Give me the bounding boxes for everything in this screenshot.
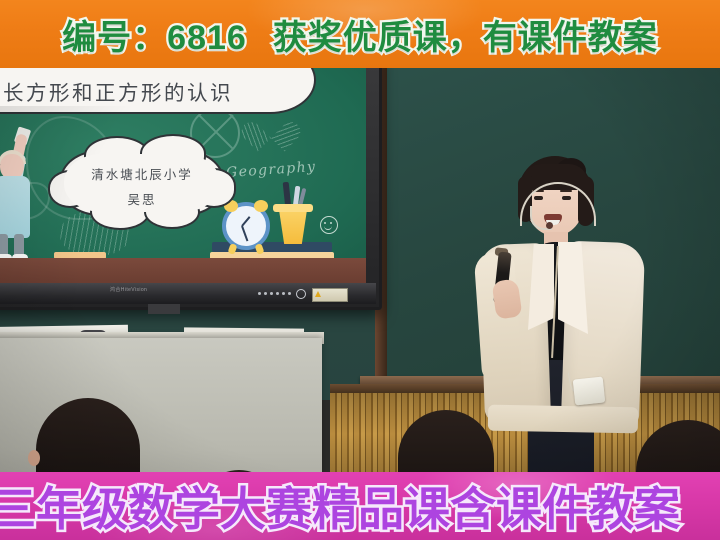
board-button[interactable] [270, 292, 273, 295]
slide-title: 长方形和正方形的认识 [0, 78, 298, 108]
slide-school-name: 清水塘北辰小学 [62, 164, 222, 183]
teacher-figure [470, 156, 658, 500]
smart-board-buttons[interactable] [258, 292, 291, 295]
lesson-code-label: 编号： [62, 18, 167, 58]
student-ear [28, 450, 40, 466]
lesson-code: 编号：6816 [62, 10, 247, 59]
top-banner-text: 编号：6816 获奖优质课，有课件教案 [62, 10, 658, 59]
chalk-word-geography: Geography [226, 159, 317, 181]
teacher-blazer-hem [488, 405, 638, 434]
cartoon-student-figure [0, 128, 42, 262]
lesson-slide: Geography [0, 62, 366, 284]
board-button[interactable] [264, 292, 267, 295]
classroom-scene: Geography [0, 0, 720, 540]
slide-subtitle-text: 清水塘北辰小学 吴思 [62, 164, 222, 208]
clock-bell-right [254, 200, 268, 212]
microphone-icon [546, 222, 553, 229]
cartoon-dress [0, 176, 30, 238]
video-frame: Geography [0, 0, 720, 540]
slide-teacher-name: 吴思 [62, 189, 222, 208]
board-button[interactable] [276, 292, 279, 295]
smiley-icon [320, 216, 338, 234]
smart-board-screen[interactable]: Geography [0, 62, 366, 284]
smart-board-brand: 鸿合HiteVision [110, 286, 147, 293]
alarm-clock-icon [222, 202, 270, 250]
board-button[interactable] [288, 292, 291, 295]
smart-board-stand [148, 304, 180, 314]
power-button-icon[interactable] [296, 289, 306, 299]
top-banner: 编号：6816 获奖优质课，有课件教案 [0, 0, 720, 68]
board-button[interactable] [282, 292, 285, 295]
belt-mic-pack-icon [573, 377, 606, 406]
lesson-code-value: 6816 [167, 19, 247, 57]
pencil-cup-icon [276, 208, 310, 244]
slide-subtitle-cloud: 清水塘北辰小学 吴思 [60, 150, 224, 216]
bottom-banner-text: 三年级数学大赛精品课含课件教案 [0, 473, 680, 539]
board-button[interactable] [258, 292, 261, 295]
bottom-banner: 三年级数学大赛精品课含课件教案 [0, 472, 720, 540]
warning-label-icon [312, 288, 348, 302]
pencil-cup-rim [273, 204, 313, 212]
slide-floor-strip [0, 258, 366, 284]
top-banner-tagline: 获奖优质课，有课件教案 [273, 10, 658, 59]
clock-minute-hand [241, 226, 248, 242]
